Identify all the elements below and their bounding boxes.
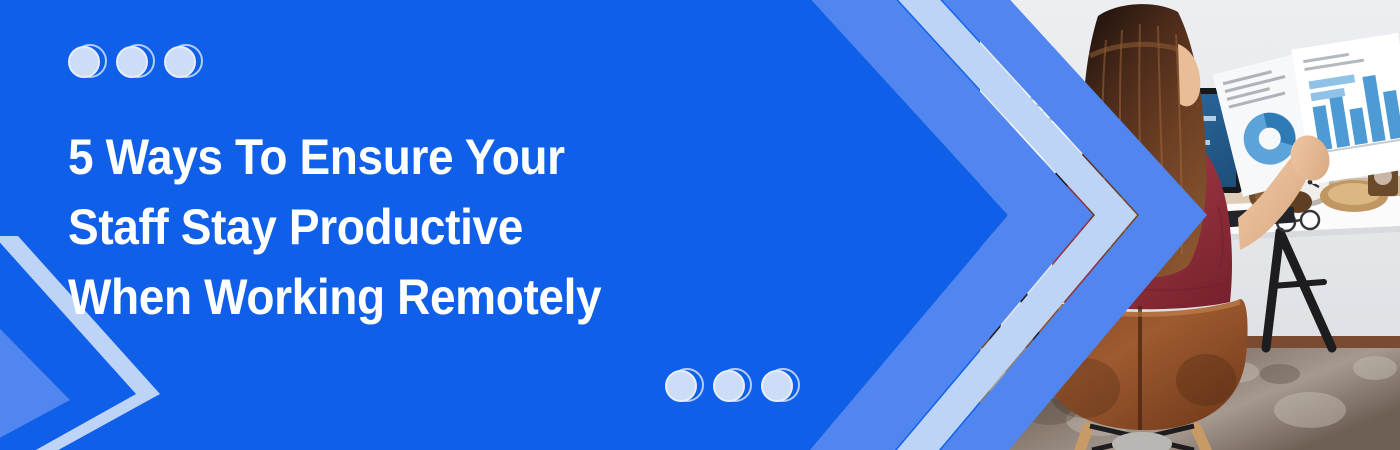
banner-headline: 5 Ways To Ensure Your Staff Stay Product…	[68, 122, 767, 332]
blog-header-banner: 5 Ways To Ensure Your Staff Stay Product…	[0, 0, 1400, 450]
decorative-dots-bottom	[665, 368, 797, 404]
hero-photo-illustration	[980, 0, 1400, 450]
dot-fill-icon	[713, 370, 745, 402]
dot-fill-icon	[164, 46, 196, 78]
dot-fill-icon	[665, 370, 697, 402]
headline-line-1: 5 Ways To Ensure Your	[68, 122, 767, 192]
headline-line-2: Staff Stay Productive	[68, 192, 767, 262]
dot-bottom-2	[713, 368, 749, 404]
dot-fill-icon	[761, 370, 793, 402]
decorative-dots-top	[68, 44, 200, 80]
dot-bottom-1	[665, 368, 701, 404]
dot-top-2	[116, 44, 152, 80]
dot-top-1	[68, 44, 104, 80]
hero-photo	[980, 0, 1400, 450]
dot-fill-icon	[116, 46, 148, 78]
dot-top-3	[164, 44, 200, 80]
dot-bottom-3	[761, 368, 797, 404]
dot-fill-icon	[68, 46, 100, 78]
headline-line-3: When Working Remotely	[68, 262, 767, 332]
